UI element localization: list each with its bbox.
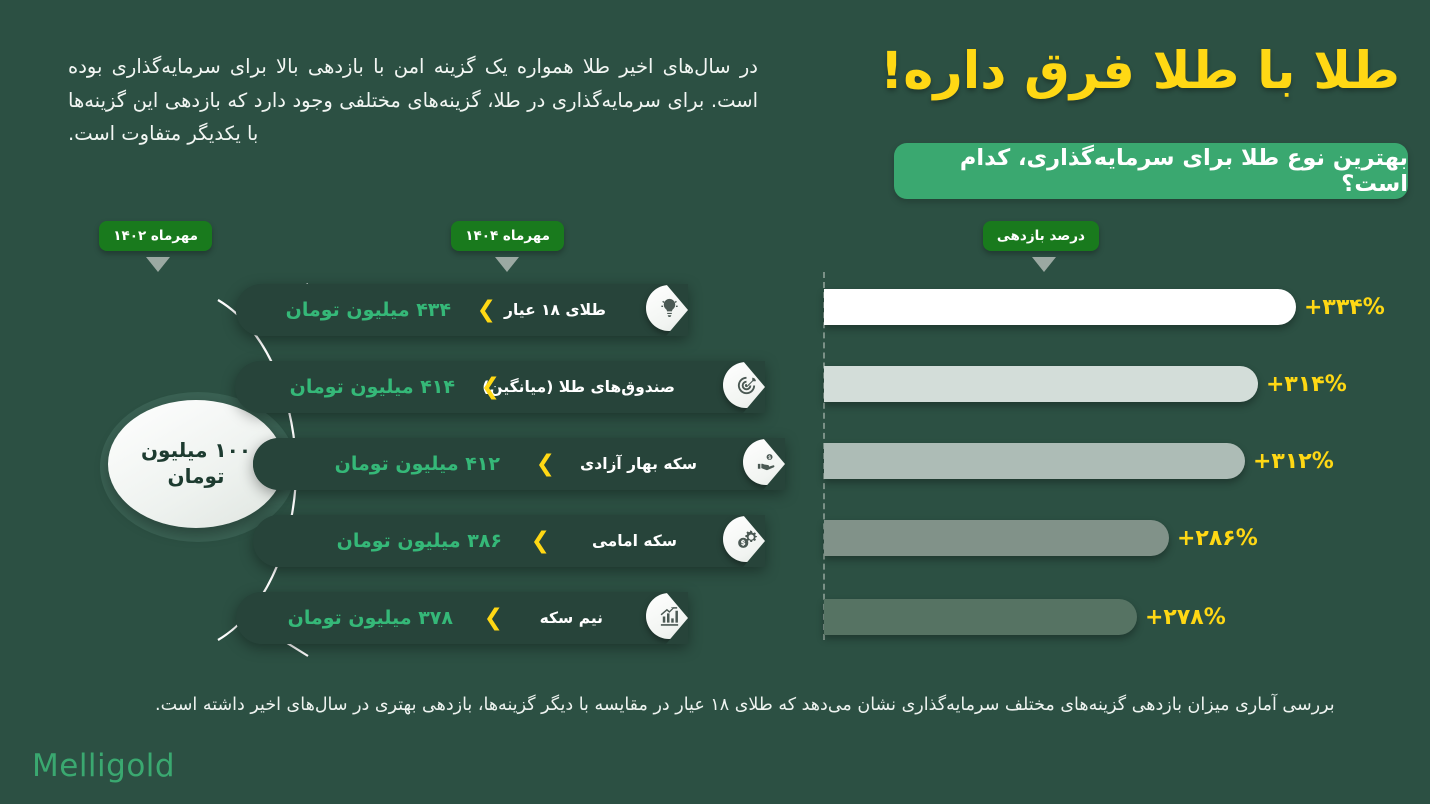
footer-paragraph: بررسی آماری میزان بازدهی گزینه‌های مختلف… — [155, 688, 1355, 722]
bar-0 — [824, 289, 1296, 325]
brand-logo: Melligold — [32, 748, 175, 784]
bar-4 — [824, 599, 1137, 635]
bar-label-2: +۳۱۲% — [1253, 449, 1334, 474]
bar-label-3: +۲۸۶% — [1177, 526, 1258, 551]
bar-label-0: +۳۳۴% — [1304, 295, 1385, 320]
bar-label-4: +۲۷۸% — [1145, 605, 1226, 630]
bar-label-1: +۳۱۴% — [1266, 372, 1347, 397]
bar-1 — [824, 366, 1258, 402]
returns-bar-chart: +۳۳۴% +۳۱۴% +۳۱۲% +۲۸۶% +۲۷۸% — [0, 0, 1430, 804]
bar-2 — [824, 443, 1245, 479]
infographic-canvas: در سال‌های اخیر طلا همواره یک گزینه امن … — [0, 0, 1430, 804]
bar-3 — [824, 520, 1169, 556]
